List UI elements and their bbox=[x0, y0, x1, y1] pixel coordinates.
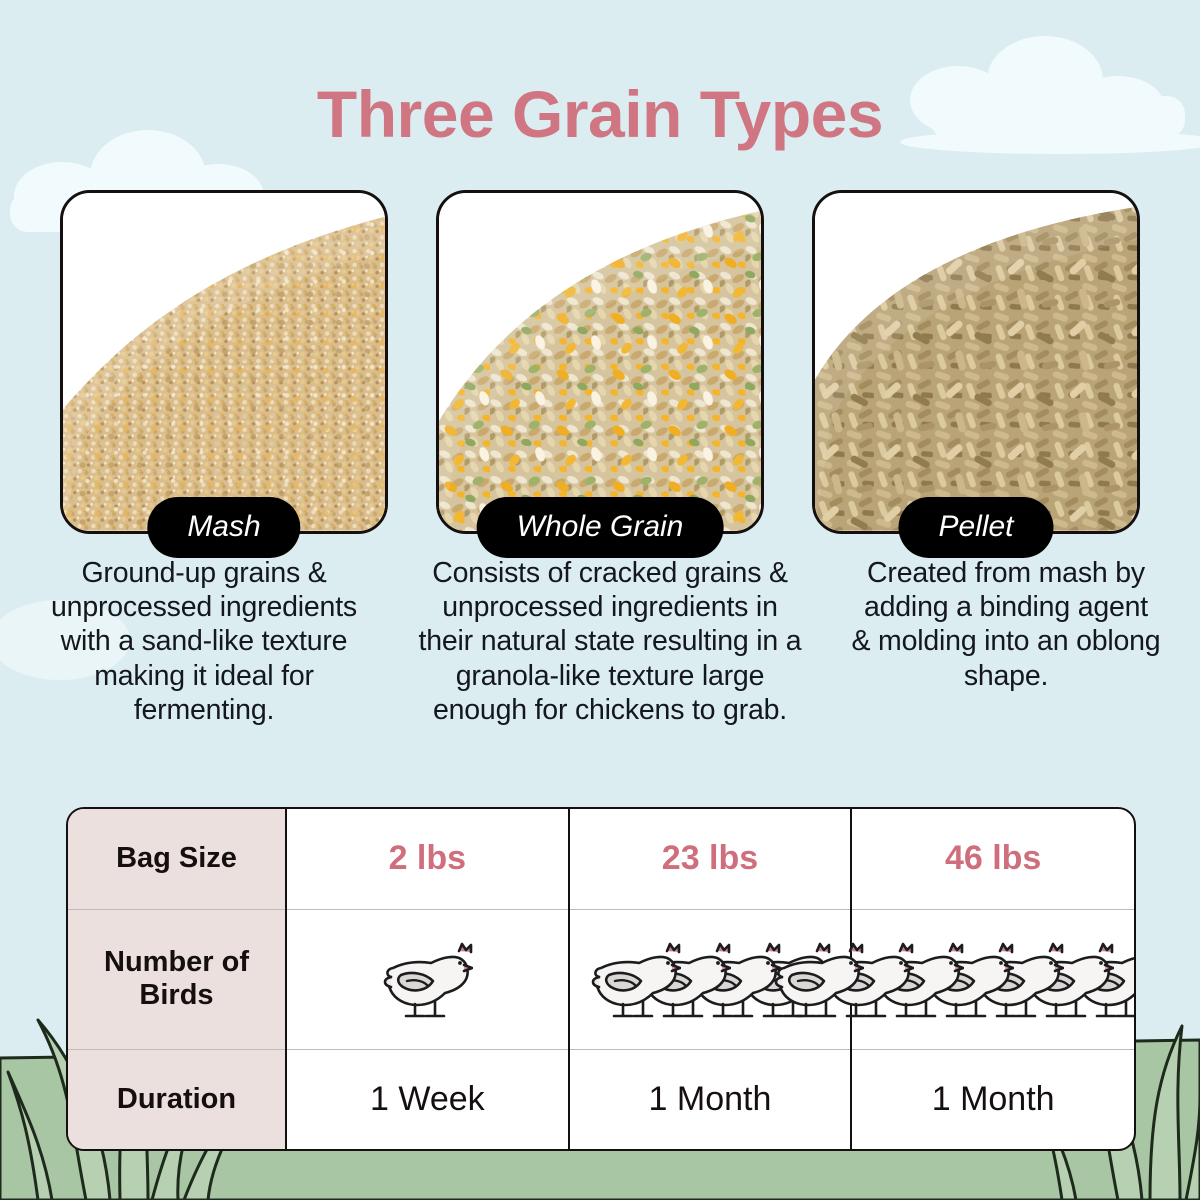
duration-value-3: 1 Month bbox=[851, 1049, 1134, 1149]
chicken-flock-1 bbox=[287, 933, 568, 1025]
duration-value-1: 1 Week bbox=[286, 1049, 569, 1149]
feed-comparison-table: Bag Size 2 lbs 23 lbs 46 lbs Number of B… bbox=[66, 807, 1136, 1151]
bird-count-cell-1 bbox=[286, 909, 569, 1049]
grain-card-label-pellet: Pellet bbox=[898, 497, 1053, 558]
grain-card-label-whole-grain: Whole Grain bbox=[477, 497, 724, 558]
mash-grain-photo bbox=[63, 193, 385, 531]
grain-descriptions-row: Ground-up grains & unprocessed ingredien… bbox=[0, 556, 1200, 727]
grain-card-pellet[interactable]: Pellet bbox=[812, 190, 1140, 534]
row-label-bag-size: Bag Size bbox=[68, 809, 286, 909]
bird-count-cell-3 bbox=[851, 909, 1134, 1049]
grain-card-mash[interactable]: Mash bbox=[60, 190, 388, 534]
table-row-bag-size: Bag Size 2 lbs 23 lbs 46 lbs bbox=[68, 809, 1134, 909]
grain-description-whole-grain: Consists of cracked grains & unprocessed… bbox=[417, 556, 803, 727]
bag-size-value-1: 2 lbs bbox=[286, 809, 569, 909]
table-row-duration: Duration 1 Week 1 Month 1 Month bbox=[68, 1049, 1134, 1149]
bag-size-value-3: 46 lbs bbox=[851, 809, 1134, 909]
chicken-icon bbox=[381, 935, 473, 1025]
chicken-icon bbox=[772, 935, 864, 1025]
pellet-grain-photo bbox=[815, 193, 1137, 531]
duration-value-2: 1 Month bbox=[569, 1049, 852, 1149]
whole-grain-photo bbox=[439, 193, 761, 531]
row-label-duration: Duration bbox=[68, 1049, 286, 1149]
table-row-number-of-birds: Number of Birds bbox=[68, 909, 1134, 1049]
bag-size-value-2: 23 lbs bbox=[569, 809, 852, 909]
chicken-flock-3 bbox=[852, 933, 1134, 1025]
grain-card-label-mash: Mash bbox=[147, 497, 300, 558]
row-label-number-of-birds: Number of Birds bbox=[68, 909, 286, 1049]
grain-description-pellet: Created from mash by adding a binding ag… bbox=[851, 556, 1161, 727]
grain-cards-row: Mash bbox=[0, 190, 1200, 540]
grain-description-mash: Ground-up grains & unprocessed ingredien… bbox=[39, 556, 369, 727]
chicken-icon bbox=[589, 935, 681, 1025]
page-title: Three Grain Types bbox=[0, 76, 1200, 152]
grain-card-whole-grain[interactable]: Whole Grain bbox=[436, 190, 764, 534]
